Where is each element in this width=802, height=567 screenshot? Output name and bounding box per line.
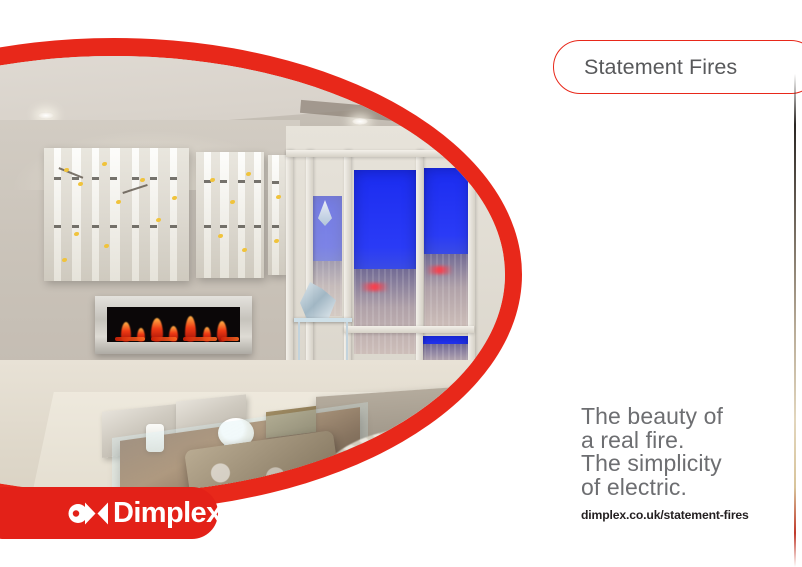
tagline-line: of electric. bbox=[581, 476, 749, 500]
statement-fires-label-pill: Statement Fires bbox=[553, 40, 802, 94]
artwork-panel bbox=[268, 155, 286, 275]
city-sign-glow bbox=[360, 283, 389, 291]
living-room-photo bbox=[0, 56, 505, 493]
registered-trademark-icon: ® bbox=[223, 503, 229, 513]
artwork-panel bbox=[44, 148, 189, 281]
tagline-line: The simplicity bbox=[581, 452, 749, 476]
dimplex-wordmark: Dimplex® bbox=[113, 499, 229, 528]
window-glass bbox=[424, 168, 470, 328]
downlight-icon bbox=[352, 118, 368, 125]
page-title: Statement Fires bbox=[584, 55, 737, 80]
dimplex-wordmark-text: Dimplex bbox=[113, 497, 222, 529]
dimplex-bowtie-icon bbox=[68, 501, 110, 526]
page-edge-shadow bbox=[794, 0, 796, 567]
electric-fireplace bbox=[95, 296, 252, 354]
brochure-page: Statement Fires The beauty of a real fir… bbox=[0, 0, 802, 567]
hero-photo-clip bbox=[0, 56, 505, 493]
tagline-block: The beauty of a real fire. The simplicit… bbox=[581, 405, 749, 522]
artwork-panel bbox=[196, 152, 264, 278]
console-table bbox=[294, 318, 352, 322]
website-url[interactable]: dimplex.co.uk/statement-fires bbox=[581, 508, 749, 522]
fireplace-firebox bbox=[107, 307, 240, 342]
tagline-line: a real fire. bbox=[581, 429, 749, 453]
city-sign-glow bbox=[426, 266, 454, 274]
interior-scene bbox=[0, 56, 505, 493]
hero-image-region bbox=[0, 0, 540, 567]
tagline-line: The beauty of bbox=[581, 405, 749, 429]
downlight-icon bbox=[38, 112, 54, 119]
dimplex-logo[interactable]: Dimplex® bbox=[0, 487, 218, 539]
